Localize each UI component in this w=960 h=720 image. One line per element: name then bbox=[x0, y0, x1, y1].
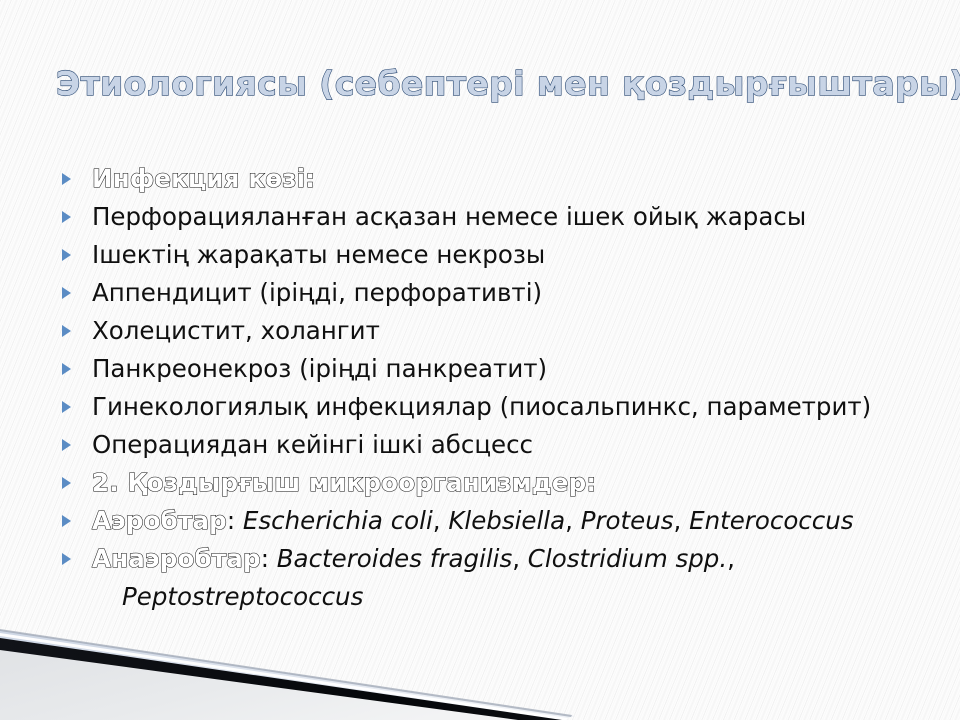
content-bullet-list: Инфекция көзі:Перфорацияланған асқазан н… bbox=[58, 160, 938, 616]
list-item-infection-source: Инфекция көзі: bbox=[58, 160, 938, 198]
list-item-postoperative-abscess: Операциядан кейінгі ішкі абсцесс bbox=[58, 426, 938, 464]
text-run: Ішектің жарақаты немесе некрозы bbox=[92, 240, 545, 269]
text-run: , bbox=[565, 506, 581, 535]
triangle-bullet-icon bbox=[62, 249, 71, 261]
list-item-text: Панкреонекроз (іріңді панкреатит) bbox=[92, 354, 547, 383]
list-item-anaerobes-continued: Peptostreptococcus bbox=[58, 578, 938, 616]
text-run: : bbox=[227, 506, 243, 535]
list-item-appendicitis: Аппендицит (іріңді, перфоративті) bbox=[58, 274, 938, 312]
text-run: Инфекция көзі: bbox=[92, 164, 315, 193]
text-run: , bbox=[433, 506, 449, 535]
text-run: Clostridium spp. bbox=[528, 544, 727, 573]
triangle-bullet-icon bbox=[62, 477, 71, 489]
text-run: Анаэробтар bbox=[92, 544, 261, 573]
list-item-text: Peptostreptococcus bbox=[92, 578, 363, 616]
text-run: Перфорацияланған асқазан немесе ішек ойы… bbox=[92, 202, 806, 231]
triangle-bullet-icon bbox=[62, 363, 71, 375]
list-item-perforated-ulcer: Перфорацияланған асқазан немесе ішек ойы… bbox=[58, 198, 938, 236]
list-item-text: Аэробтар: Escherichia coli, Klebsiella, … bbox=[92, 506, 854, 535]
triangle-bullet-icon bbox=[62, 173, 71, 185]
list-item-text: Операциядан кейінгі ішкі абсцесс bbox=[92, 430, 533, 459]
text-run: Панкреонекроз (іріңді панкреатит) bbox=[92, 354, 547, 383]
text-run: Peptostreptococcus bbox=[122, 582, 363, 611]
list-item-aerobes: Аэробтар: Escherichia coli, Klebsiella, … bbox=[58, 502, 938, 540]
text-run: : bbox=[261, 544, 277, 573]
text-run: Аппендицит (іріңді, перфоративті) bbox=[92, 278, 542, 307]
list-item-text: 2. Қоздырғыш микроорганизмдер: bbox=[92, 468, 596, 497]
text-run: Операциядан кейінгі ішкі абсцесс bbox=[92, 430, 533, 459]
triangle-bullet-icon bbox=[62, 401, 71, 413]
slide-canvas: Этиологиясы (себептері мен қоздырғыштары… bbox=[0, 0, 960, 720]
list-item-pancreatic-necrosis: Панкреонекроз (іріңді панкреатит) bbox=[58, 350, 938, 388]
list-item-bowel-injury-necrosis: Ішектің жарақаты немесе некрозы bbox=[58, 236, 938, 274]
text-run: Холецистит, холангит bbox=[92, 316, 380, 345]
text-run: , bbox=[512, 544, 528, 573]
text-run: Гинекологиялық инфекциялар (пиосальпинкс… bbox=[92, 392, 871, 421]
list-item-text: Перфорацияланған асқазан немесе ішек ойы… bbox=[92, 202, 806, 231]
list-item-text: Инфекция көзі: bbox=[92, 164, 315, 193]
text-run: Escherichia coli bbox=[243, 506, 433, 535]
list-item-text: Холецистит, холангит bbox=[92, 316, 380, 345]
text-run: 2. Қоздырғыш микроорганизмдер: bbox=[92, 468, 596, 497]
text-run: , bbox=[674, 506, 690, 535]
list-item-causative-microorganisms: 2. Қоздырғыш микроорганизмдер: bbox=[58, 464, 938, 502]
text-run: Bacteroides fragilis bbox=[277, 544, 512, 573]
list-item-text: Ішектің жарақаты немесе некрозы bbox=[92, 240, 545, 269]
text-run: Proteus bbox=[581, 506, 674, 535]
page-title: Этиологиясы (себептері мен қоздырғыштары… bbox=[56, 64, 936, 104]
triangle-bullet-icon bbox=[62, 211, 71, 223]
list-item-text: Анаэробтар: Bacteroides fragilis, Clostr… bbox=[92, 544, 735, 573]
triangle-bullet-icon bbox=[62, 287, 71, 299]
list-item-text: Аппендицит (іріңді, перфоративті) bbox=[92, 278, 542, 307]
list-item-anaerobes: Анаэробтар: Bacteroides fragilis, Clostr… bbox=[58, 540, 938, 578]
text-run: Аэробтар bbox=[92, 506, 227, 535]
triangle-bullet-icon bbox=[62, 515, 71, 527]
text-run: Enterococcus bbox=[689, 506, 853, 535]
text-run: Klebsiella bbox=[448, 506, 565, 535]
triangle-bullet-icon bbox=[62, 553, 71, 565]
list-item-text: Гинекологиялық инфекциялар (пиосальпинкс… bbox=[92, 392, 871, 421]
text-run: , bbox=[727, 544, 735, 573]
triangle-bullet-icon bbox=[62, 325, 71, 337]
list-item-gynecologic-infections: Гинекологиялық инфекциялар (пиосальпинкс… bbox=[58, 388, 938, 426]
triangle-bullet-icon bbox=[62, 439, 71, 451]
list-item-cholecystitis-cholangitis: Холецистит, холангит bbox=[58, 312, 938, 350]
